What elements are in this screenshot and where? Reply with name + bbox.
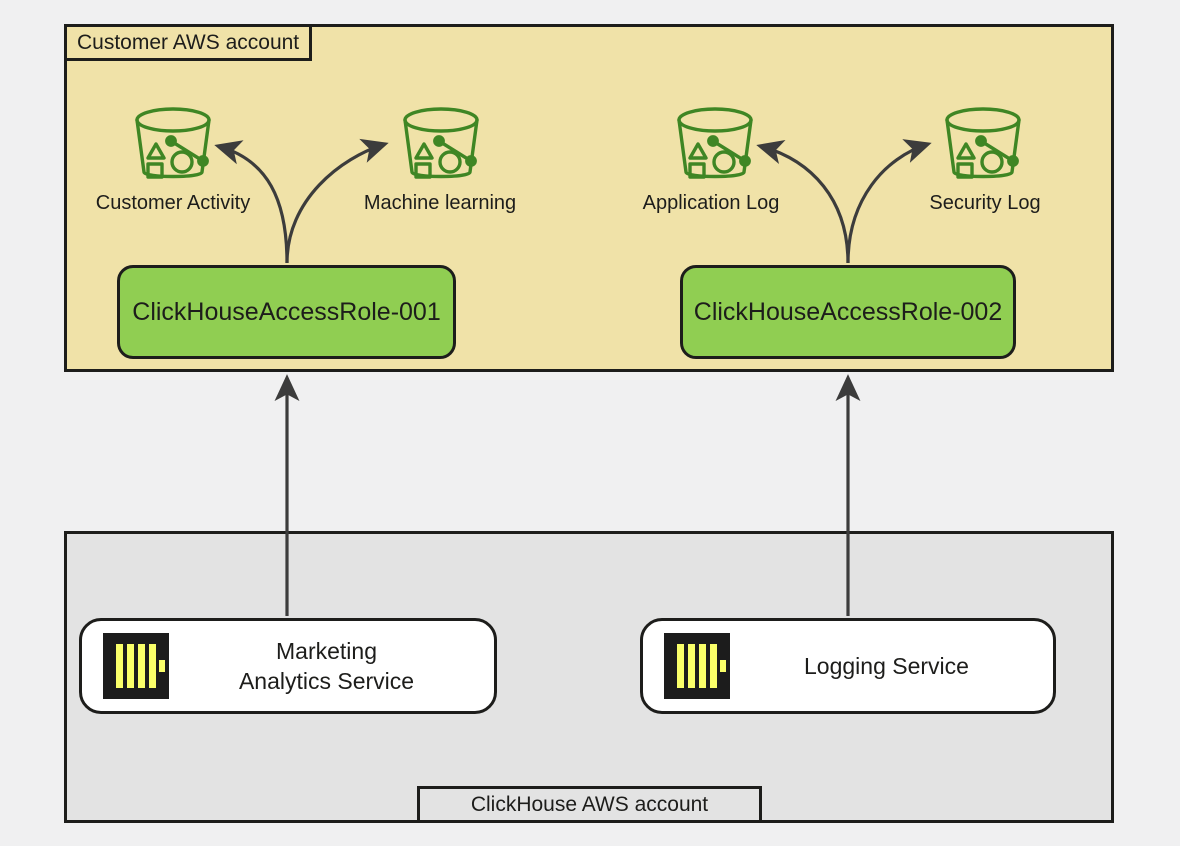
bucket-label-application-log: Application Log — [634, 193, 788, 213]
role-box-clickhouseaccessrole-001[interactable]: ClickHouseAccessRole-001 — [117, 265, 456, 359]
service-box-logging[interactable]: Logging Service — [640, 618, 1056, 714]
service-label-logging: Logging Service — [730, 651, 1053, 681]
s3-bucket-icon-machine-learning — [392, 106, 490, 182]
clickhouse-logo-icon — [103, 633, 169, 699]
bucket-label-machine-learning: Machine learning — [345, 193, 535, 213]
s3-bucket-icon-customer-activity — [124, 106, 222, 182]
clickhouse-logo-icon — [664, 633, 730, 699]
bucket-label-customer-activity: Customer Activity — [78, 193, 268, 213]
diagram-canvas: Customer Activity Machine learning Appli… — [0, 0, 1180, 846]
bucket-label-security-log: Security Log — [905, 193, 1065, 213]
service-box-marketing-analytics[interactable]: Marketing Analytics Service — [79, 618, 497, 714]
customer-aws-account-label: Customer AWS account — [64, 24, 312, 61]
clickhouse-aws-account-label: ClickHouse AWS account — [417, 786, 762, 823]
service-label-marketing-analytics: Marketing Analytics Service — [169, 636, 494, 697]
s3-bucket-icon-application-log — [666, 106, 764, 182]
role-box-clickhouseaccessrole-002[interactable]: ClickHouseAccessRole-002 — [680, 265, 1016, 359]
s3-bucket-icon-security-log — [934, 106, 1032, 182]
